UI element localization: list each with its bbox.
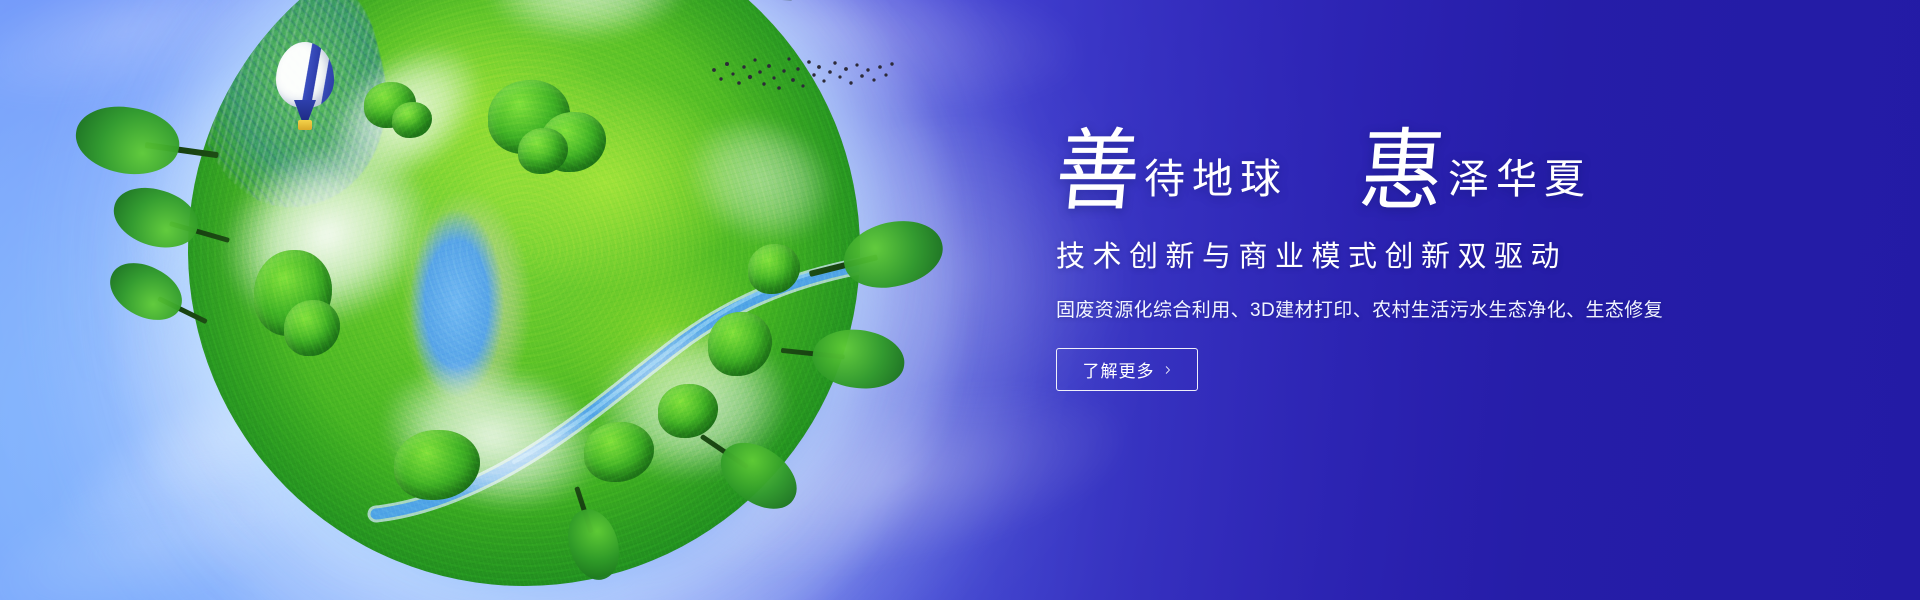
page-title: 善 待地球 惠 泽华夏 [1056,134,1756,211]
learn-more-label: 了解更多 [1083,357,1155,382]
chevron-right-icon [1164,366,1172,374]
headline-big-char-2: 惠 [1356,132,1447,214]
headline-big-char-1: 善 [1052,132,1143,214]
page-subtitle: 技术创新与商业模式创新双驱动 [1056,233,1756,275]
headline-group-2: 惠 泽华夏 [1360,134,1592,211]
headline-small-text-2: 泽华夏 [1448,159,1592,211]
hero-banner: 善 待地球 惠 泽华夏 技术创新与商业模式创新双驱动 固废资源化综合利用、3D建… [0,0,1920,600]
headline-small-text-1: 待地球 [1144,159,1288,211]
balloon-skirt [294,100,316,120]
page-description: 固废资源化综合利用、3D建材打印、农村生活污水生态净化、生态修复 [1056,295,1756,322]
hero-text-block: 善 待地球 惠 泽华夏 技术创新与商业模式创新双驱动 固废资源化综合利用、3D建… [1056,134,1756,391]
bird-flock-icon [706,50,896,108]
balloon-basket [298,120,312,130]
balloon-envelope [276,42,334,108]
learn-more-button[interactable]: 了解更多 [1056,348,1198,391]
headline-group-1: 善 待地球 [1056,134,1288,211]
hot-air-balloon-icon [276,42,334,134]
